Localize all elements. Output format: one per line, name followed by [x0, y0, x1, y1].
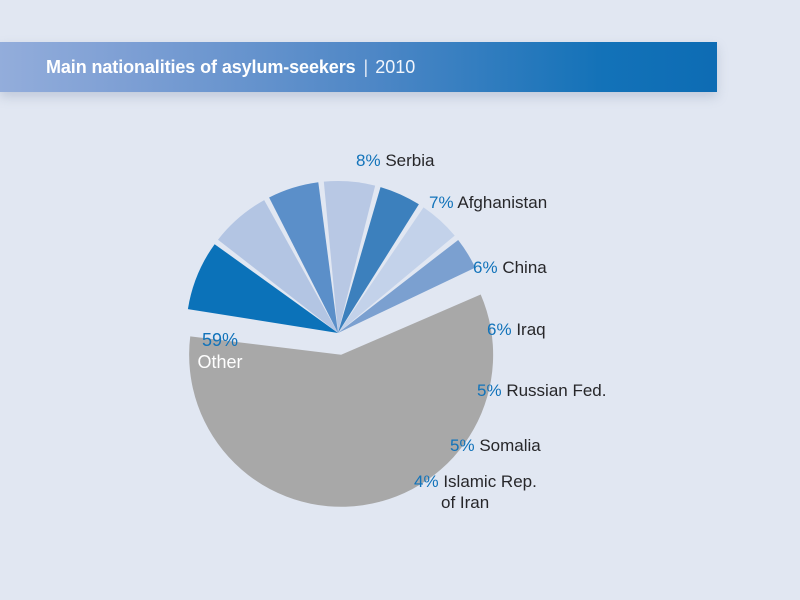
slice-percent-serbia: 8%: [356, 151, 381, 170]
slice-name-serbia: Serbia: [385, 151, 434, 170]
slice-percent-china: 6%: [473, 258, 498, 277]
slice-label-russian-fed: 5% Russian Fed.: [477, 380, 606, 401]
slice-name-islamic-rep-of-iran-line2: of Iran: [414, 492, 537, 513]
slice-label-china: 6% China: [473, 257, 547, 278]
slice-label-serbia: 8% Serbia: [356, 150, 434, 171]
header-bar: Main nationalities of asylum-seekers | 2…: [0, 42, 717, 92]
slice-label-somalia: 5% Somalia: [450, 435, 541, 456]
slice-name-china: China: [502, 258, 546, 277]
slice-percent-russian-fed: 5%: [477, 381, 502, 400]
slice-label-other: 59% Other: [165, 330, 275, 373]
slice-label-islamic-rep-of-iran: 4% Islamic Rep. of Iran: [414, 471, 537, 514]
slice-name-other: Other: [165, 352, 275, 374]
slice-percent-islamic-rep-of-iran: 4%: [414, 472, 439, 491]
slice-name-iraq: Iraq: [516, 320, 545, 339]
slice-percent-afghanistan: 7%: [429, 193, 454, 212]
slice-name-somalia: Somalia: [479, 436, 540, 455]
slice-name-afghanistan: Afghanistan: [457, 193, 547, 212]
slice-percent-iraq: 6%: [487, 320, 512, 339]
slice-name-islamic-rep-of-iran: Islamic Rep.: [443, 472, 537, 491]
slice-percent-somalia: 5%: [450, 436, 475, 455]
slice-label-afghanistan: 7% Afghanistan: [429, 192, 547, 213]
slice-label-iraq: 6% Iraq: [487, 319, 546, 340]
pie-chart: 8% Serbia 7% Afghanistan 6% China 6% Ira…: [0, 92, 800, 600]
page-title: Main nationalities of asylum-seekers: [46, 57, 356, 78]
header-divider: |: [364, 57, 369, 78]
slice-percent-other: 59%: [165, 330, 275, 352]
slice-name-russian-fed: Russian Fed.: [506, 381, 606, 400]
header-year: 2010: [375, 57, 415, 78]
